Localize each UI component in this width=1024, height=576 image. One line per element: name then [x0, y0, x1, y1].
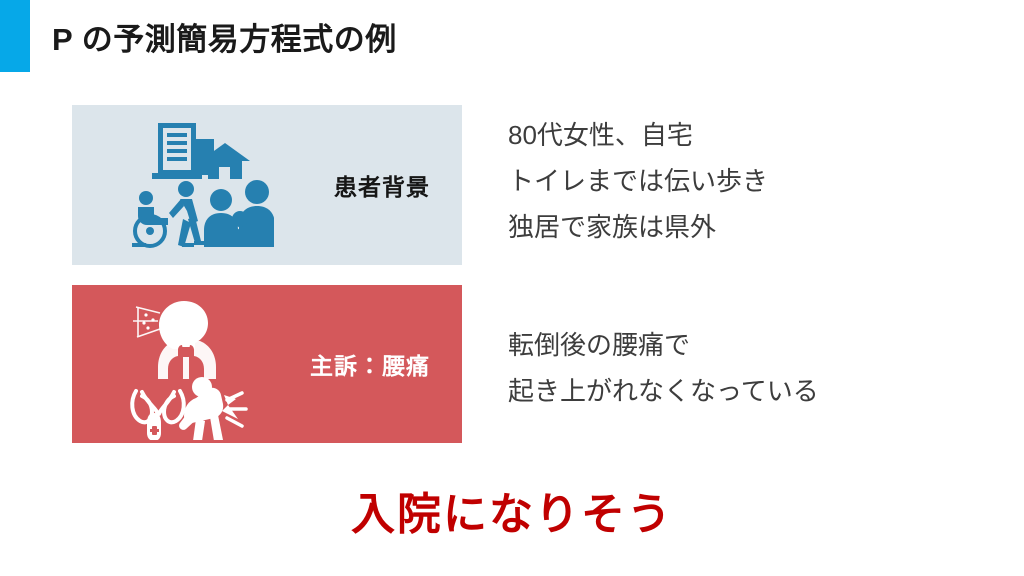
card-icon-group-complaint	[124, 295, 274, 435]
description-chief-complaint: 転倒後の腰痛で 起き上がれなくなっている	[508, 322, 819, 414]
description-line: 起き上がれなくなっている	[508, 368, 819, 414]
description-line: 転倒後の腰痛で	[508, 322, 819, 368]
family-group-icon	[204, 180, 274, 247]
coughing-lungs-icon	[133, 301, 216, 383]
pelvis-anatomy-icon-detail	[147, 413, 161, 440]
page-title: P の予測簡易方程式の例	[52, 9, 397, 63]
card-chief-complaint: 主訴：腰痛	[72, 285, 462, 443]
card-icon-group-patient	[124, 115, 274, 255]
card-patient-background: 患者背景	[72, 105, 462, 265]
slide-root: P の予測簡易方程式の例	[0, 0, 1024, 576]
card-label-chief-complaint: 主訴：腰痛	[310, 347, 430, 381]
description-patient-background: 80代女性、自宅 トイレまでは伝い歩き 独居で家族は県外	[508, 112, 768, 250]
description-line: 80代女性、自宅	[508, 112, 768, 158]
wheelchair-caregiver-icon	[132, 181, 207, 247]
description-line: 独居で家族は県外	[508, 204, 768, 250]
description-line: トイレまでは伝い歩き	[508, 158, 768, 204]
hospital-building-house-icon	[152, 123, 250, 179]
back-pain-person-icon	[179, 377, 246, 440]
title-accent-bar	[0, 0, 30, 72]
card-label-patient-background: 患者背景	[334, 168, 430, 202]
conclusion-text: 入院になりそう	[0, 478, 1024, 542]
